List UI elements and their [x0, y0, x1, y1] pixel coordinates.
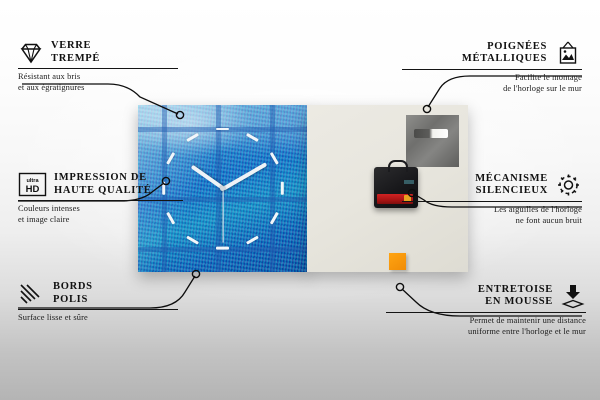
- callout-impression-haute-qualite: ultra HD IMPRESSION DE HAUTE QUALITÉ Cou…: [18, 172, 183, 225]
- ultra-hd-icon: ultra HD: [18, 172, 47, 197]
- callout-bords-polis: BORDS POLIS Surface lisse et sûre: [18, 281, 178, 324]
- picture-frame-hanger-icon: [554, 40, 582, 66]
- callout-title-line1: VERRE: [51, 40, 100, 53]
- clock-tick: [246, 133, 259, 142]
- foam-spacer: [389, 253, 406, 270]
- callout-title-line1: BORDS: [53, 281, 93, 294]
- callout-sub-line2: ne font aucun bruit: [402, 216, 582, 226]
- clock-hour-hand: [190, 165, 224, 190]
- callout-title-line2: MÉTALLIQUES: [462, 53, 547, 66]
- polished-edges-icon: [18, 282, 46, 306]
- clock-tick: [186, 236, 199, 245]
- callout-title-line2: TREMPÉ: [51, 53, 100, 66]
- callout-sub-line2: uniforme entre l'horloge et le mur: [386, 327, 586, 337]
- callout-sub-line1: Résistant aux bris: [18, 72, 178, 82]
- clock-tick: [281, 182, 284, 195]
- callout-sub-line1: Les aiguilles de l'horloge: [402, 205, 582, 215]
- callout-sub-line1: Permet de maintenir une distance: [386, 316, 586, 326]
- callout-mecanisme-silencieux: MÉCANISME SILENCIEUX Les aiguilles de l'…: [402, 172, 582, 226]
- callout-rule: [18, 200, 183, 201]
- callout-title-line1: POIGNÉES: [462, 41, 547, 54]
- callout-header: BORDS POLIS: [18, 281, 178, 306]
- callout-rule: [402, 69, 582, 70]
- clock-second-hand: [222, 188, 223, 242]
- callout-header: MÉCANISME SILENCIEUX: [402, 172, 582, 198]
- infographic-canvas: VERRE TREMPÉ Résistant aux bris et aux é…: [0, 0, 600, 400]
- callout-title-line1: ENTRETOISE: [478, 284, 553, 297]
- callout-title-line1: MÉCANISME: [475, 173, 548, 186]
- callout-rule: [18, 68, 178, 69]
- callout-title-line2: HAUTE QUALITÉ: [54, 185, 152, 198]
- clock-tick: [270, 212, 279, 225]
- callout-title-line2: POLIS: [53, 294, 93, 307]
- clock-tick: [270, 152, 279, 165]
- callout-rule: [18, 309, 178, 310]
- callout-sub-line2: et image claire: [18, 215, 183, 225]
- clock-tick: [186, 133, 199, 142]
- callout-sub-line2: de l'horloge sur le mur: [402, 84, 582, 94]
- callout-poignees-metalliques: POIGNÉES MÉTALLIQUES Facilite le montage…: [402, 40, 582, 94]
- callout-header: VERRE TREMPÉ: [18, 40, 178, 65]
- callout-sub-line2: et aux égratignures: [18, 83, 178, 93]
- callout-header: ENTRETOISE EN MOUSSE: [386, 283, 586, 309]
- callout-header: ultra HD IMPRESSION DE HAUTE QUALITÉ: [18, 172, 183, 197]
- callout-title-line2: SILENCIEUX: [475, 185, 548, 198]
- arrow-down-pad-icon: [560, 283, 586, 309]
- callout-entretoise-en-mousse: ENTRETOISE EN MOUSSE Permet de maintenir…: [386, 283, 586, 337]
- callout-sub-line1: Surface lisse et sûre: [18, 313, 178, 323]
- callout-sub-line1: Couleurs intenses: [18, 204, 183, 214]
- metal-hanger-plate: [406, 115, 459, 167]
- callout-title-line2: EN MOUSSE: [478, 296, 553, 309]
- clock-center-pin: [220, 186, 225, 191]
- clock-tick: [216, 128, 229, 131]
- clock-tick: [216, 247, 229, 250]
- callout-rule: [386, 312, 586, 313]
- clock-minute-hand: [222, 162, 267, 190]
- svg-text:HD: HD: [26, 184, 40, 195]
- clock-tick: [246, 236, 259, 245]
- callout-header: POIGNÉES MÉTALLIQUES: [402, 40, 582, 66]
- mechanism-hook: [388, 160, 408, 172]
- callout-title-line1: IMPRESSION DE: [54, 172, 152, 185]
- gear-icon: [555, 172, 582, 198]
- clock-tick: [167, 152, 176, 165]
- callout-verre-trempe: VERRE TREMPÉ Résistant aux bris et aux é…: [18, 40, 178, 93]
- callout-rule: [402, 201, 582, 202]
- callout-sub-line1: Facilite le montage: [402, 73, 582, 83]
- diamond-icon: [18, 42, 44, 64]
